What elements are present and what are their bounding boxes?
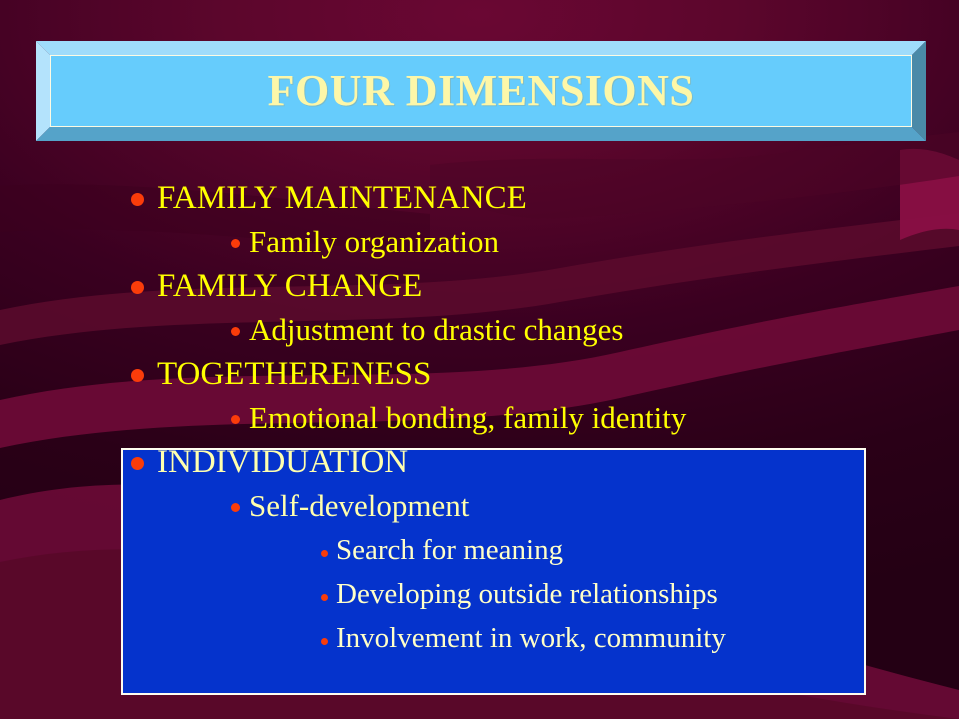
bullet-label: Developing outside relationships [336, 578, 718, 611]
page-title: FOUR DIMENSIONS [268, 69, 695, 113]
bullet-label: Adjustment to drastic changes [249, 312, 624, 348]
bullet-label: TOGETHERENESS [157, 356, 431, 393]
bullet-item-family-maintenance: FAMILY MAINTENANCE [0, 176, 959, 220]
bullet-item-emotional-bonding: Emotional bonding, family identity [0, 396, 959, 440]
bullet-item-involvement-in-work-community: Involvement in work, community [0, 616, 959, 660]
bullet-dot-icon [231, 327, 240, 336]
bullet-item-individuation: INDIVIDUATION [0, 440, 959, 484]
slide-title-plate: FOUR DIMENSIONS [36, 41, 926, 141]
bullet-label: Emotional bonding, family identity [249, 400, 686, 436]
bullet-dot-icon [321, 638, 328, 645]
bullet-label: Search for meaning [336, 534, 563, 567]
bullet-label: Involvement in work, community [336, 622, 726, 655]
bullet-dot-icon [231, 503, 240, 512]
bullet-dot-icon [231, 415, 240, 424]
bullet-item-developing-outside-relationships: Developing outside relationships [0, 572, 959, 616]
title-plate-inner: FOUR DIMENSIONS [50, 55, 912, 127]
bevel-left-edge [36, 41, 50, 141]
bullet-label: FAMILY CHANGE [157, 268, 422, 305]
bullet-label: INDIVIDUATION [157, 444, 408, 481]
bullet-item-self-development: Self-development [0, 484, 959, 528]
bullet-dot-icon [321, 594, 328, 601]
presentation-slide: FOUR DIMENSIONS FAMILY MAINTENANCE Famil… [0, 0, 959, 719]
bullet-dot-icon [131, 281, 144, 294]
bullet-label: Family organization [249, 224, 499, 260]
bullet-dot-icon [131, 457, 144, 470]
bullet-item-adjustment-to-drastic-changes: Adjustment to drastic changes [0, 308, 959, 352]
bullet-label: FAMILY MAINTENANCE [157, 180, 527, 217]
bullet-dot-icon [321, 550, 328, 557]
bevel-top-edge [36, 41, 926, 55]
bullet-item-family-organization: Family organization [0, 220, 959, 264]
bullet-item-togethereness: TOGETHERENESS [0, 352, 959, 396]
bullet-item-search-for-meaning: Search for meaning [0, 528, 959, 572]
bullet-label: Self-development [249, 488, 469, 524]
bevel-right-edge [912, 41, 926, 141]
bevel-bottom-edge [36, 127, 926, 141]
bullet-dot-icon [231, 239, 240, 248]
bullet-item-family-change: FAMILY CHANGE [0, 264, 959, 308]
bullet-dot-icon [131, 369, 144, 382]
bullet-dot-icon [131, 193, 144, 206]
bullet-list: FAMILY MAINTENANCE Family organization F… [0, 176, 959, 660]
